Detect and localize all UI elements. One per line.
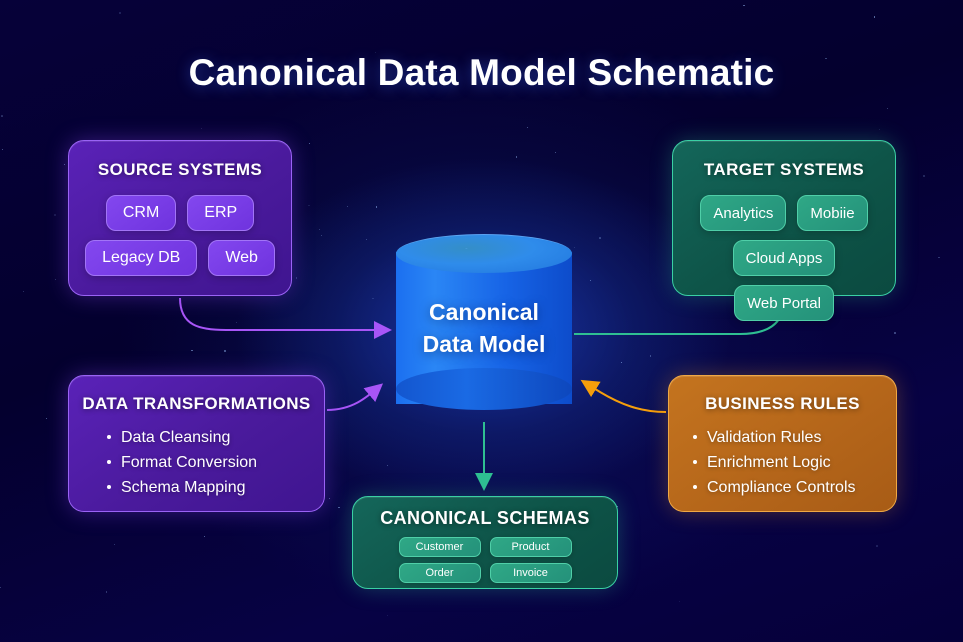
data-transformations-title: DATA TRANSFORMATIONS bbox=[69, 394, 324, 414]
list-item: Validation Rules bbox=[693, 425, 896, 450]
node-source-systems[interactable]: SOURCE SYSTEMS CRM ERP Legacy DB Web bbox=[68, 140, 292, 296]
connector-transformations-to-core bbox=[327, 386, 380, 410]
chip-cloud-apps[interactable]: Cloud Apps bbox=[733, 240, 836, 276]
canonical-data-model-node[interactable]: Canonical Data Model bbox=[396, 234, 572, 422]
list-item: Data Cleansing bbox=[107, 425, 324, 450]
node-canonical-schemas[interactable]: CANONICAL SCHEMAS Customer Product Order… bbox=[352, 496, 618, 589]
chip-legacy-db[interactable]: Legacy DB bbox=[85, 240, 197, 276]
chip-web[interactable]: Web bbox=[208, 240, 275, 276]
node-target-systems[interactable]: TARGET SYSTEMS Analytics Mobiie Cloud Ap… bbox=[672, 140, 896, 296]
chip-invoice[interactable]: Invoice bbox=[490, 563, 572, 583]
cylinder-top bbox=[396, 234, 572, 273]
chip-mobile[interactable]: Mobiie bbox=[797, 195, 867, 231]
core-label-line2: Data Model bbox=[396, 328, 572, 360]
source-systems-title: SOURCE SYSTEMS bbox=[69, 160, 291, 180]
chip-customer[interactable]: Customer bbox=[399, 537, 481, 557]
business-rules-title: BUSINESS RULES bbox=[669, 394, 896, 414]
chip-analytics[interactable]: Analytics bbox=[700, 195, 786, 231]
core-label-line1: Canonical bbox=[396, 296, 572, 328]
data-transformations-list: Data Cleansing Format Conversion Schema … bbox=[69, 425, 324, 500]
list-item: Compliance Controls bbox=[693, 475, 896, 500]
diagram-canvas: Canonical Data Model Schematic Canonical… bbox=[0, 0, 963, 642]
target-systems-title: TARGET SYSTEMS bbox=[673, 160, 895, 180]
canonical-data-model-label: Canonical Data Model bbox=[396, 296, 572, 360]
node-business-rules[interactable]: BUSINESS RULES Validation Rules Enrichme… bbox=[668, 375, 897, 512]
canonical-schemas-title: CANONICAL SCHEMAS bbox=[353, 508, 617, 529]
business-rules-list: Validation Rules Enrichment Logic Compli… bbox=[669, 425, 896, 500]
connector-source-to-core bbox=[180, 298, 388, 330]
chip-erp[interactable]: ERP bbox=[187, 195, 254, 231]
target-systems-chip-list: Analytics Mobiie Cloud Apps Web Portal bbox=[673, 195, 895, 321]
chip-web-portal[interactable]: Web Portal bbox=[734, 285, 834, 321]
list-item: Schema Mapping bbox=[107, 475, 324, 500]
chip-order[interactable]: Order bbox=[399, 563, 481, 583]
canonical-schemas-chip-list: Customer Product Order Invoice bbox=[353, 537, 617, 583]
cylinder-bottom bbox=[396, 368, 572, 410]
source-systems-chip-list: CRM ERP Legacy DB Web bbox=[69, 195, 291, 276]
list-item: Format Conversion bbox=[107, 450, 324, 475]
chip-product[interactable]: Product bbox=[490, 537, 572, 557]
connector-rules-to-core bbox=[584, 382, 666, 412]
list-item: Enrichment Logic bbox=[693, 450, 896, 475]
node-data-transformations[interactable]: DATA TRANSFORMATIONS Data Cleansing Form… bbox=[68, 375, 325, 512]
chip-crm[interactable]: CRM bbox=[106, 195, 176, 231]
